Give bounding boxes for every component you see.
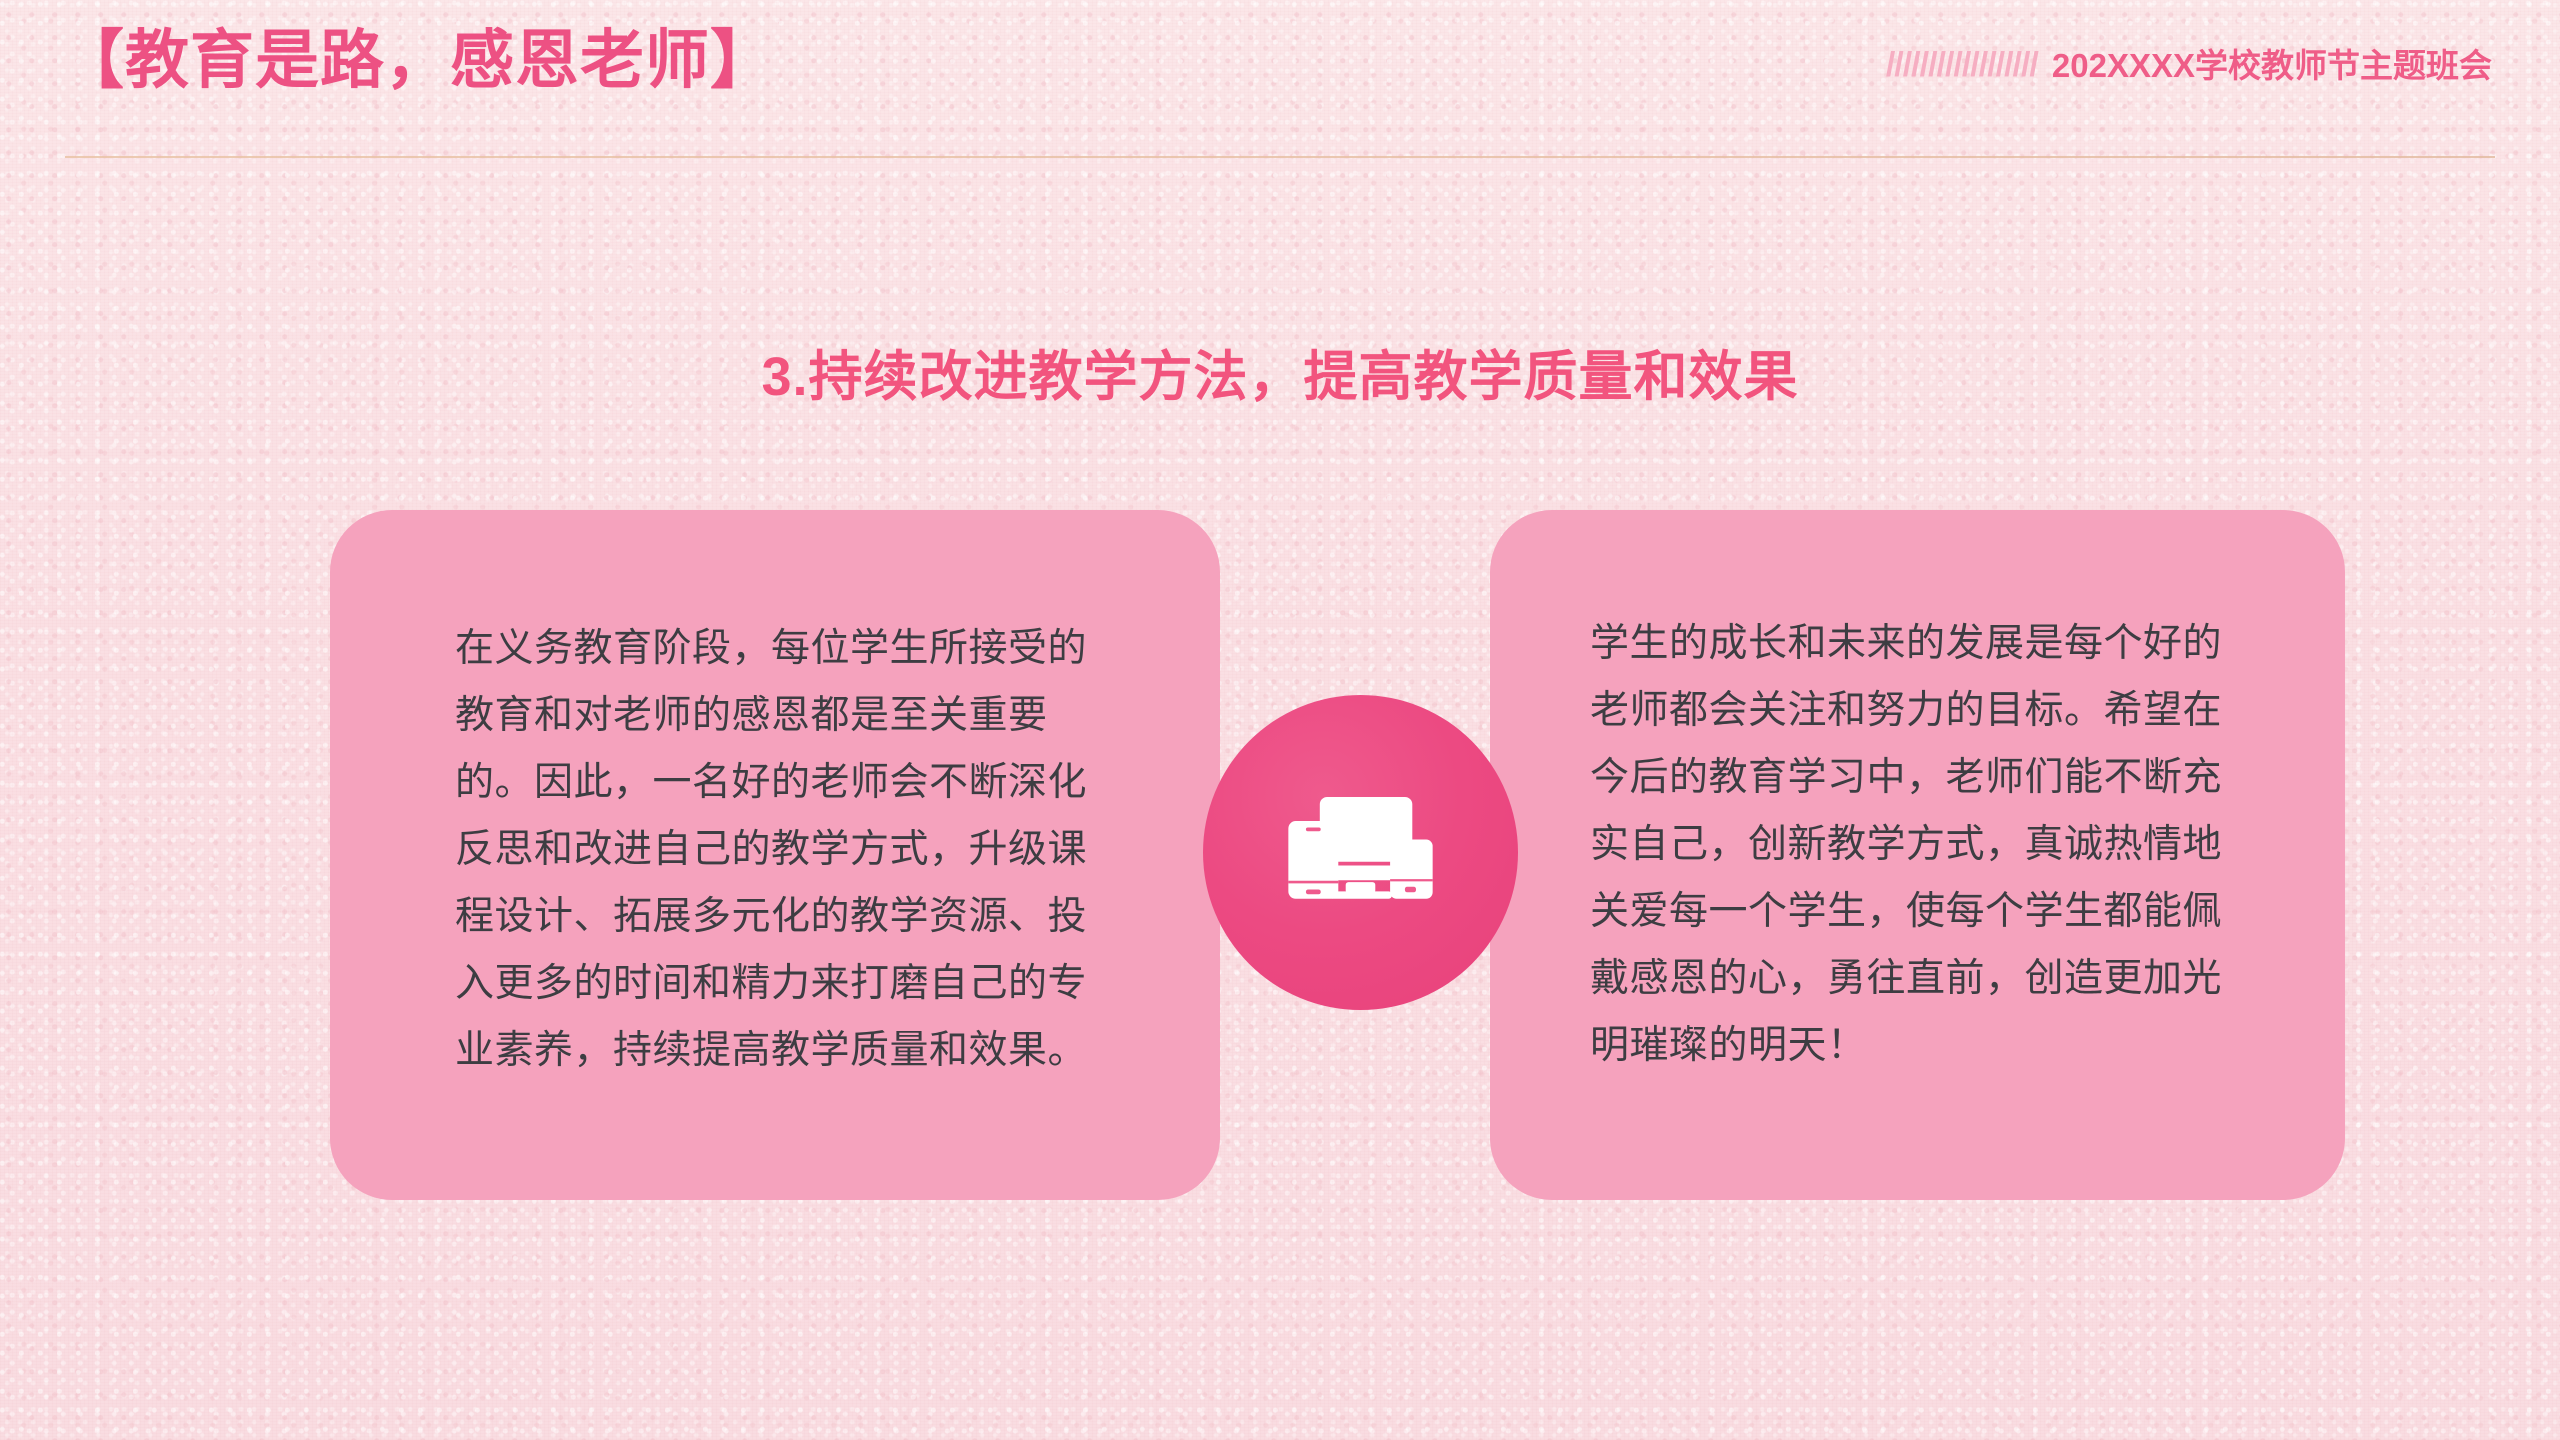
card-right-text: 学生的成长和未来的发展是每个好的老师都会关注和努力的目标。希望在今后的教育学习中…: [1590, 610, 2255, 1080]
page-title: 3.持续改进教学方法，提高教学质量和效果: [0, 348, 2560, 407]
content-card-right: 学生的成长和未来的发展是每个好的老师都会关注和努力的目标。希望在今后的教育学习中…: [1490, 510, 2345, 1200]
slashes-decoration: //////////////////: [1886, 48, 2038, 82]
slide-canvas: 【教育是路，感恩老师】 ////////////////// 202XXXX学校…: [0, 0, 2560, 1440]
center-icon-badge: [1203, 695, 1518, 1010]
content-card-left: 在义务教育阶段，每位学生所接受的教育和对老师的感恩都是至关重要的。因此，一名好的…: [330, 510, 1220, 1200]
header-right-group: ////////////////// 202XXXX学校教师节主题班会: [1886, 48, 2492, 82]
header-divider: [65, 156, 2495, 158]
slide-header: 【教育是路，感恩老师】 ////////////////// 202XXXX学校…: [0, 0, 2560, 160]
header-subtitle: 202XXXX学校教师节主题班会: [2052, 49, 2492, 82]
card-left-text: 在义务教育阶段，每位学生所接受的教育和对老师的感恩都是至关重要的。因此，一名好的…: [455, 615, 1115, 1085]
header-title: 【教育是路，感恩老师】: [60, 28, 775, 92]
devices-icon: [1268, 760, 1453, 945]
